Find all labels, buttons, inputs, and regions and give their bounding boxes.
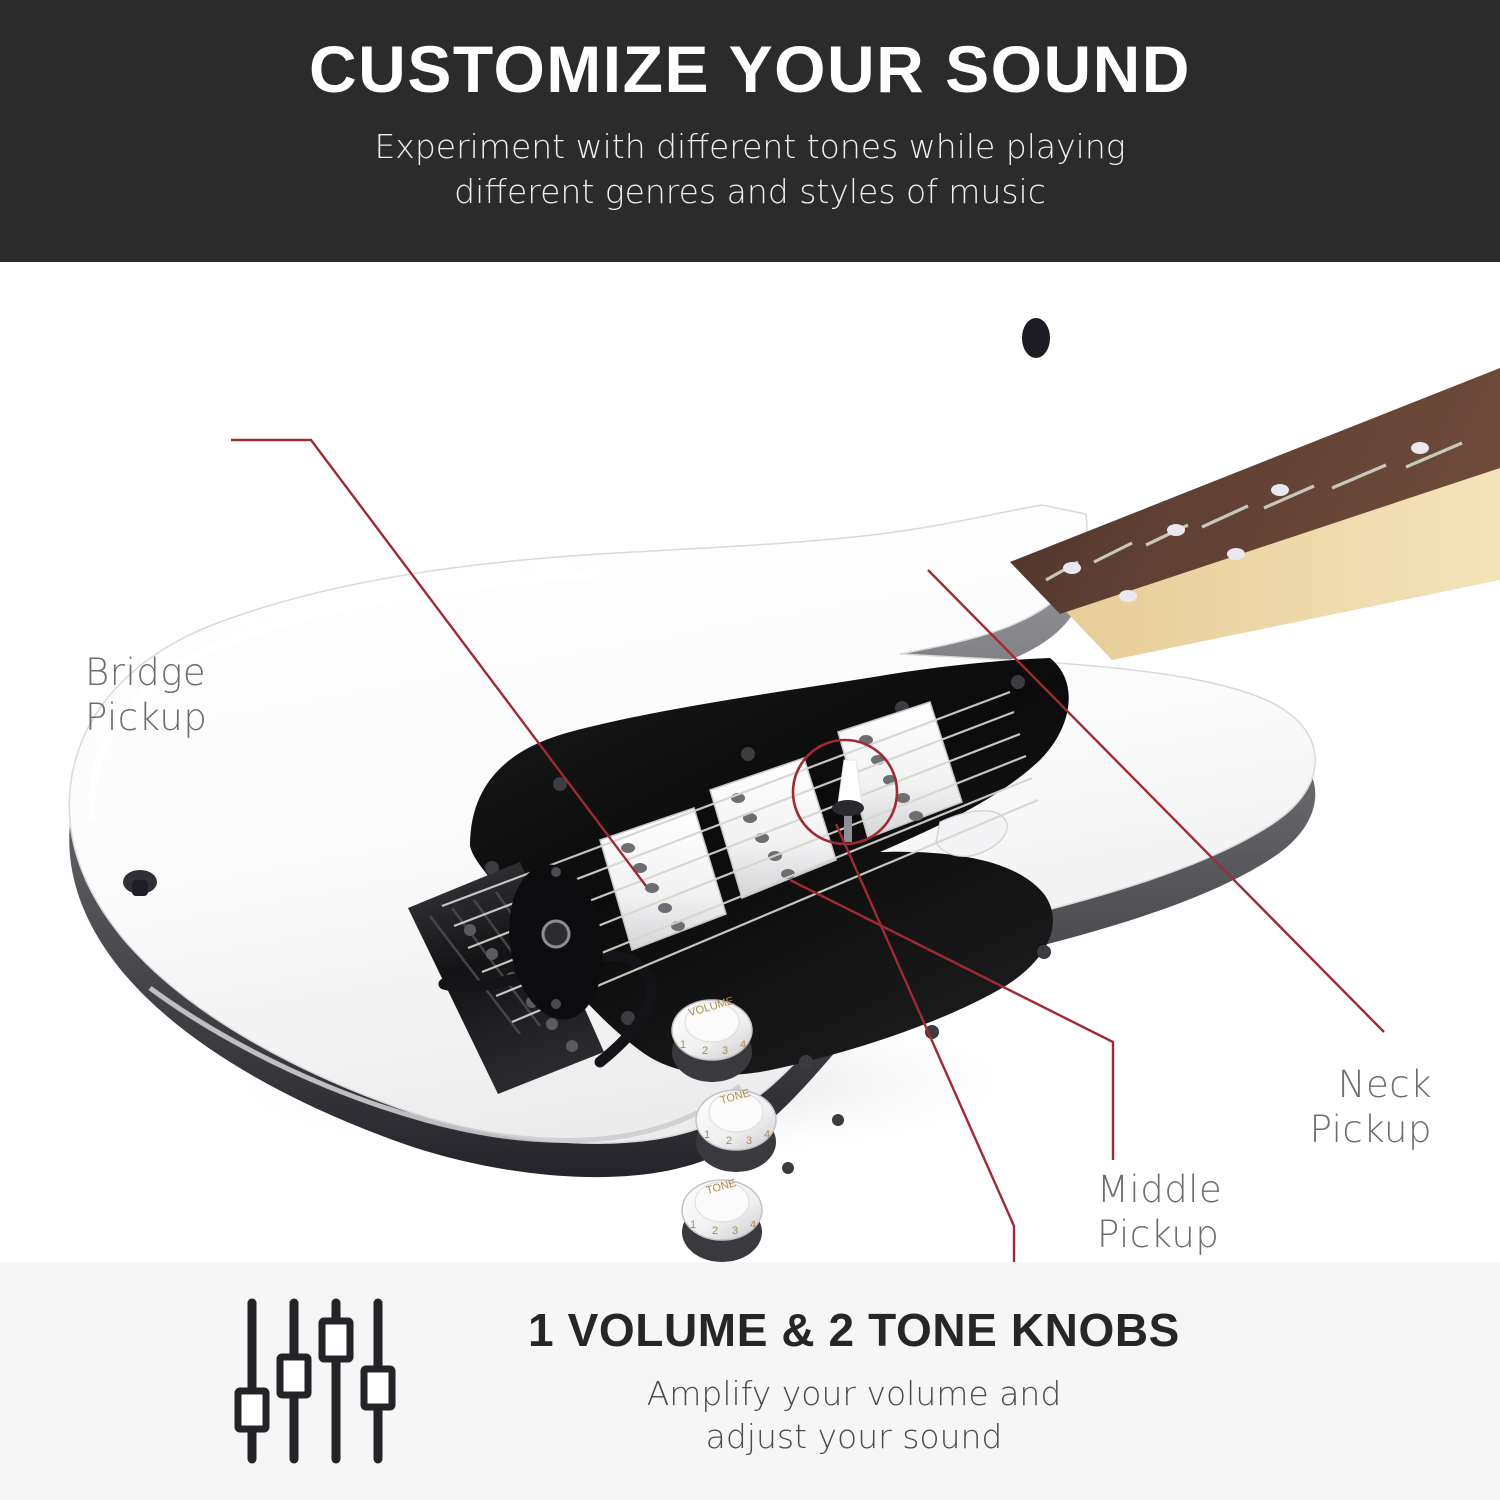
svg-text:2: 2 <box>702 1045 708 1057</box>
svg-text:3: 3 <box>722 1045 728 1057</box>
sliders-icon <box>232 1295 396 1467</box>
header-banner: CUSTOMIZE YOUR SOUND Experiment with dif… <box>0 0 1500 262</box>
volume-knob: VOLUME 1 2 3 4 <box>672 995 752 1082</box>
svg-text:2: 2 <box>712 1225 718 1237</box>
callout-label-bridge-pickup: Bridge Pickup <box>85 650 207 740</box>
svg-text:4: 4 <box>764 1129 770 1141</box>
callout-label-middle-pickup: Middle Pickup <box>1097 1167 1222 1257</box>
tone-knob-1: TONE 1 2 3 4 <box>696 1087 776 1172</box>
svg-text:2: 2 <box>726 1135 732 1147</box>
svg-text:1: 1 <box>704 1129 710 1141</box>
product-photo-area: VOLUME 1 2 3 4 TONE 1 2 3 4 <box>0 262 1500 1262</box>
header-title: CUSTOMIZE YOUR SOUND <box>309 36 1191 103</box>
svg-text:4: 4 <box>740 1039 746 1051</box>
feature-banner-title: 1 VOLUME & 2 TONE KNOBS <box>528 1303 1180 1357</box>
header-subtitle-line-1: Experiment with different tones while pl… <box>374 125 1125 169</box>
feature-banner-text: 1 VOLUME & 2 TONE KNOBS Amplify your vol… <box>454 1303 1254 1459</box>
header-subtitle: Experiment with different tones while pl… <box>374 125 1125 213</box>
feature-banner-subtitle-line-1: Amplify your volume and <box>647 1373 1062 1416</box>
feature-banner: 1 VOLUME & 2 TONE KNOBS Amplify your vol… <box>0 1262 1500 1500</box>
guitar-illustration: VOLUME 1 2 3 4 TONE 1 2 3 4 <box>0 262 1500 1262</box>
header-subtitle-line-2: different genres and styles of music <box>374 170 1125 214</box>
feature-banner-subtitle: Amplify your volume and adjust your soun… <box>647 1373 1062 1459</box>
tone-knob-2: TONE 1 2 3 4 <box>682 1177 762 1262</box>
svg-text:1: 1 <box>690 1219 696 1231</box>
svg-text:4: 4 <box>750 1219 756 1231</box>
infographic-page: CUSTOMIZE YOUR SOUND Experiment with dif… <box>0 0 1500 1500</box>
callout-label-neck-pickup: Neck Pickup <box>1310 1062 1432 1152</box>
svg-text:3: 3 <box>746 1135 752 1147</box>
svg-text:3: 3 <box>732 1225 738 1237</box>
feature-banner-subtitle-line-2: adjust your sound <box>647 1416 1062 1459</box>
svg-text:1: 1 <box>680 1039 686 1051</box>
